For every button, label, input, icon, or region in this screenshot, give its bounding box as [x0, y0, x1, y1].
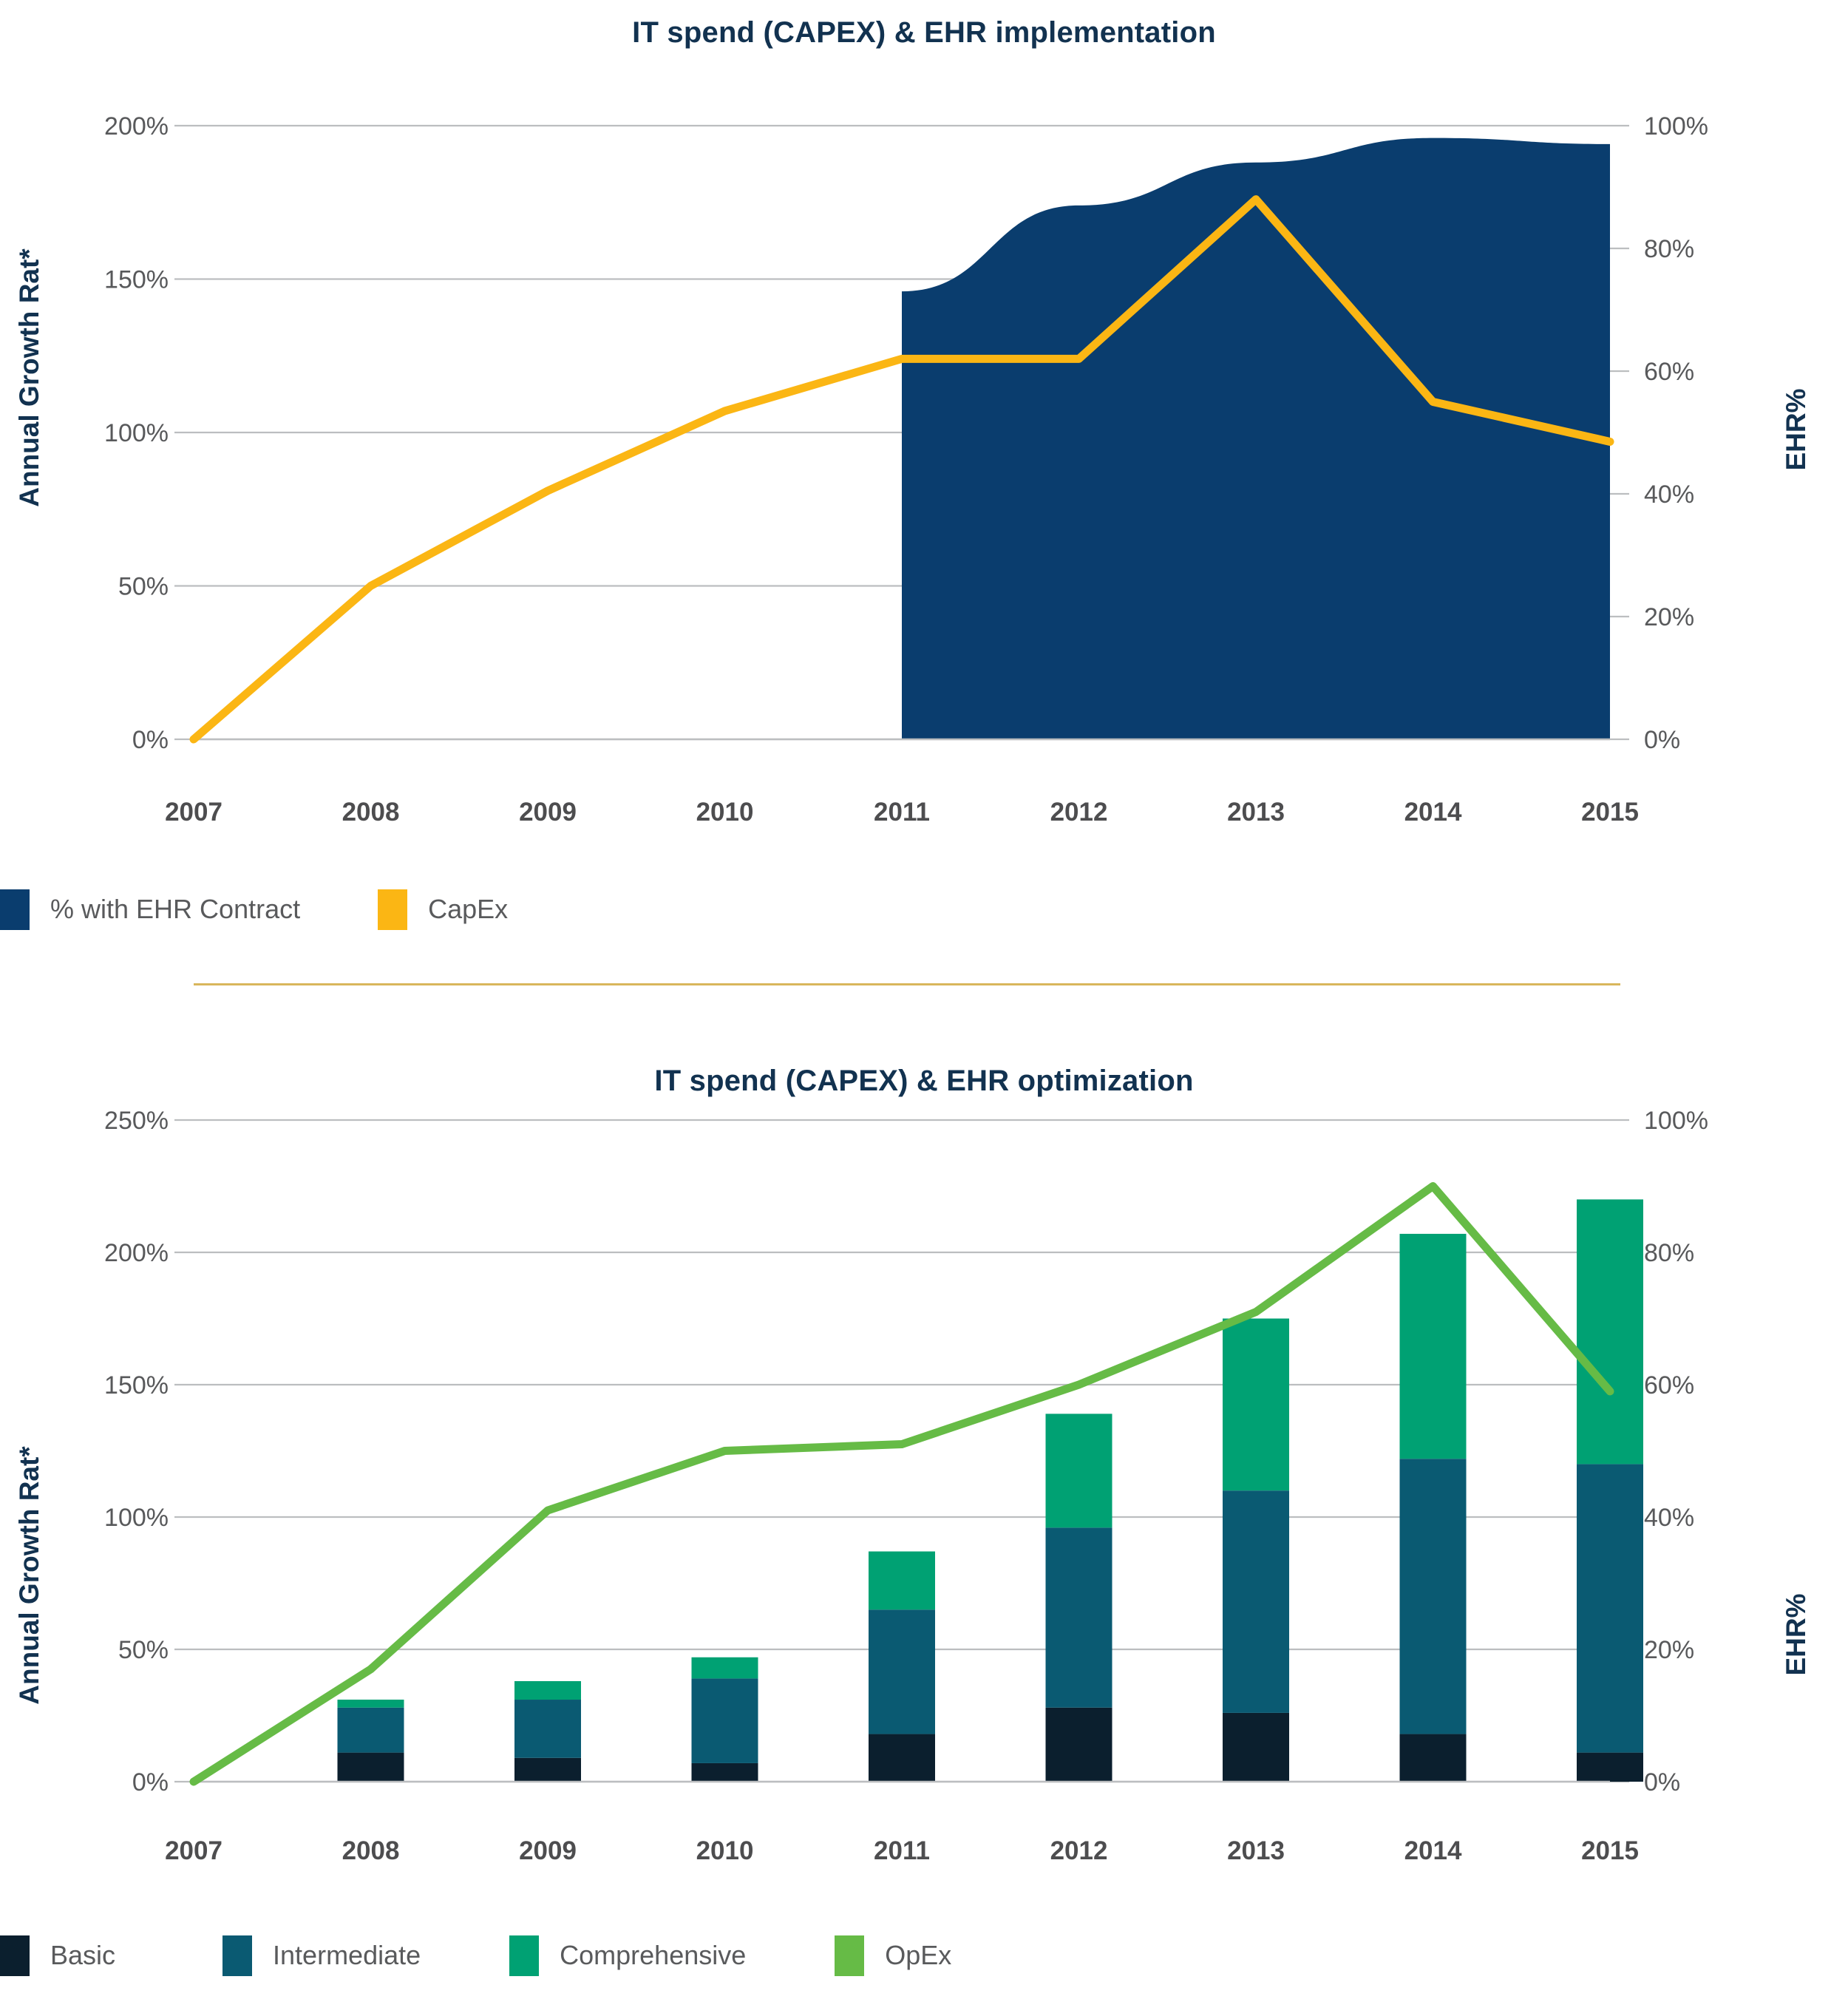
chart2-bar-segment: [338, 1708, 404, 1753]
chart2-bar-segment: [1577, 1753, 1643, 1782]
chart2-bar-segment: [692, 1657, 758, 1679]
chart2-bar-segment: [1046, 1527, 1112, 1707]
chart2-bar-segment: [1046, 1708, 1112, 1782]
chart1-ehr-area: [902, 138, 1610, 739]
chart1-y2tick: 60%: [1644, 358, 1694, 386]
chart1-y2tick: 20%: [1644, 603, 1694, 631]
chart1-xtick: 2014: [1404, 798, 1462, 827]
chart2-bar-segment: [514, 1681, 581, 1700]
legend-label-opex: OpEx: [885, 1940, 951, 1971]
chart1-y2tick: 40%: [1644, 481, 1694, 509]
chart1-xtick: 2012: [1050, 798, 1108, 827]
chart2-bar-segment: [514, 1700, 581, 1758]
chart2-xtick: 2011: [874, 1836, 930, 1865]
chart1-y2tick: 100%: [1644, 112, 1708, 140]
chart1-legend: % with EHR Contract CapEx: [0, 887, 508, 932]
chart2-ytick: 100%: [104, 1504, 169, 1532]
legend-item-basic[interactable]: Basic: [0, 1935, 115, 1976]
chart2-xtick: 2010: [696, 1836, 754, 1865]
chart2-bar-segment: [1577, 1199, 1643, 1464]
chart2-bar-segment: [338, 1700, 404, 1708]
chart1-ytick: 50%: [118, 573, 169, 601]
chart2-xtick: 2007: [165, 1836, 222, 1865]
chart2-bar-segment: [692, 1763, 758, 1782]
chart2-xtick: 2014: [1404, 1836, 1462, 1865]
legend-swatch-comprehensive: [509, 1935, 539, 1976]
chart1-xtick: 2009: [519, 798, 577, 827]
chart2-bar-segment: [1223, 1713, 1289, 1782]
chart2-y2tick: 0%: [1644, 1768, 1680, 1796]
chart2-y2tick: 100%: [1644, 1107, 1708, 1135]
chart-panel-implementation: IT spend (CAPEX) & EHR implementation An…: [0, 0, 1848, 961]
legend-label-intermediate: Intermediate: [273, 1940, 421, 1971]
chart1-ytick: 200%: [104, 112, 169, 140]
chart2-xtick: 2013: [1227, 1836, 1285, 1865]
chart2-y2tick: 40%: [1644, 1504, 1694, 1532]
legend-label-capex: CapEx: [428, 894, 508, 925]
chart1-xtick: 2008: [342, 798, 400, 827]
chart2-bar-segment: [1400, 1734, 1467, 1782]
chart2-ytick: 250%: [104, 1107, 169, 1135]
legend-swatch-basic: [0, 1935, 30, 1976]
chart2-xtick: 2015: [1581, 1836, 1639, 1865]
legend-swatch-capex: [378, 889, 407, 930]
chart1-plot: 0%50%100%150%200%0%20%40%60%80%100%20072…: [0, 0, 1848, 961]
chart2-bar-segment: [1577, 1464, 1643, 1752]
chart1-xtick: 2013: [1227, 798, 1285, 827]
chart2-bar-segment: [338, 1753, 404, 1782]
chart1-y2tick: 0%: [1644, 726, 1680, 754]
chart1-xtick: 2015: [1581, 798, 1639, 827]
chart2-bar-segment: [514, 1758, 581, 1782]
chart1-ytick: 0%: [132, 726, 169, 754]
legend-item-comprehensive[interactable]: Comprehensive: [509, 1935, 746, 1976]
legend-swatch-intermediate: [222, 1935, 252, 1976]
chart-page: IT spend (CAPEX) & EHR implementation An…: [0, 0, 1848, 2002]
chart2-bar-segment: [1046, 1414, 1112, 1527]
chart2-y2tick: 80%: [1644, 1239, 1694, 1267]
chart2-bar-segment: [1223, 1490, 1289, 1713]
legend-label-comprehensive: Comprehensive: [560, 1940, 746, 1971]
chart1-xtick: 2011: [874, 798, 930, 827]
chart2-bar-segment: [869, 1609, 935, 1734]
chart2-ytick: 200%: [104, 1239, 169, 1267]
chart2-xtick: 2008: [342, 1836, 400, 1865]
chart2-ytick: 0%: [132, 1768, 169, 1796]
chart2-bar-segment: [1400, 1234, 1467, 1459]
legend-item-opex[interactable]: OpEx: [835, 1935, 951, 1976]
chart2-y2tick: 60%: [1644, 1371, 1694, 1399]
chart2-bar-segment: [869, 1552, 935, 1610]
legend-item-intermediate[interactable]: Intermediate: [222, 1935, 421, 1976]
chart2-xtick: 2009: [519, 1836, 577, 1865]
chart2-xtick: 2012: [1050, 1836, 1108, 1865]
chart2-bar-segment: [1400, 1459, 1467, 1734]
chart1-xtick: 2010: [696, 798, 754, 827]
chart1-xtick: 2007: [165, 798, 222, 827]
chart2-ytick: 150%: [104, 1371, 169, 1399]
chart1-ytick: 150%: [104, 266, 169, 294]
legend-swatch-opex: [835, 1935, 864, 1976]
legend-item-ehr-contract[interactable]: % with EHR Contract: [0, 889, 300, 930]
chart2-plot: 0%50%100%150%200%250%0%20%40%60%80%100%2…: [0, 1035, 1848, 1922]
chart2-bar-segment: [869, 1734, 935, 1782]
chart1-ytick: 100%: [104, 419, 169, 447]
legend-label-basic: Basic: [50, 1940, 115, 1971]
chart2-y2tick: 20%: [1644, 1636, 1694, 1664]
chart2-bar-segment: [1223, 1319, 1289, 1491]
legend-item-capex[interactable]: CapEx: [378, 889, 508, 930]
chart1-y2tick: 80%: [1644, 235, 1694, 263]
section-divider: [194, 983, 1620, 985]
chart2-legend: Basic Intermediate Comprehensive OpEx: [0, 1933, 951, 1978]
chart-panel-optimization: IT spend (CAPEX) & EHR optimization Annu…: [0, 1035, 1848, 2002]
legend-swatch-ehr-contract: [0, 889, 30, 930]
chart2-bar-segment: [692, 1678, 758, 1763]
chart2-ytick: 50%: [118, 1636, 169, 1664]
legend-label-ehr-contract: % with EHR Contract: [50, 894, 300, 925]
